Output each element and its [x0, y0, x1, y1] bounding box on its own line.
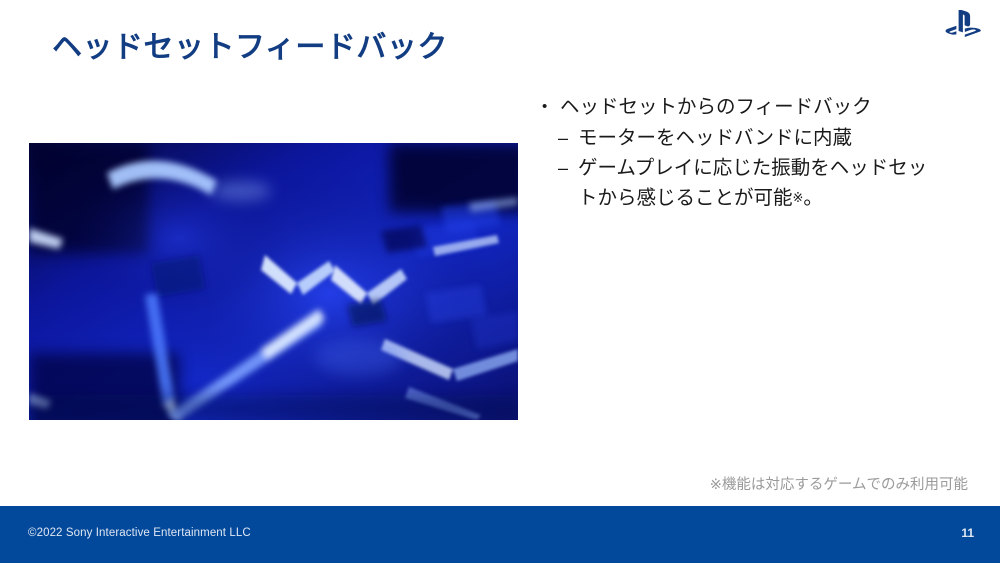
bullet-text-sub-2-line2-prefix: トから感じることが可能	[578, 187, 793, 209]
bullet-text-sub-2-line1: ゲームプレイに応じた振動をヘッドセッ	[578, 154, 968, 183]
bullet-marker-dash: –	[558, 154, 568, 183]
bullet-marker-dot: •	[542, 92, 547, 122]
page-number: 11	[961, 526, 974, 540]
slide-root: ヘッドセットフィードバック	[0, 0, 1000, 563]
bullet-text-sub-2-line2-suffix: 。	[803, 187, 823, 209]
footnote-reference-mark: ※	[793, 190, 804, 205]
bullet-item-primary: • ヘッドセットからのフィードバック	[538, 92, 968, 122]
bullet-text-sub-2-line2: トから感じることが可能※。	[578, 183, 968, 213]
footer-bar: ©2022 Sony Interactive Entertainment LLC…	[0, 506, 1000, 563]
bullet-item-sub-1: – モーターをヘッドバンドに内蔵	[538, 124, 968, 153]
bullet-list: • ヘッドセットからのフィードバック – モーターをヘッドバンドに内蔵 – ゲー…	[538, 92, 968, 213]
headset-feedback-image	[29, 143, 518, 420]
footnote-text: ※機能は対応するゲームでのみ利用可能	[710, 473, 968, 494]
bullet-text-primary: ヘッドセットからのフィードバック	[560, 96, 872, 118]
bullet-marker-dash: –	[558, 124, 568, 153]
bullet-item-sub-2: – ゲームプレイに応じた振動をヘッドセッ トから感じることが可能※。	[538, 154, 968, 213]
page-title: ヘッドセットフィードバック	[52, 22, 448, 66]
footer-copyright: ©2022 Sony Interactive Entertainment LLC	[28, 527, 251, 539]
bullet-text-sub-1: モーターをヘッドバンドに内蔵	[578, 124, 968, 153]
playstation-logo	[944, 8, 984, 42]
